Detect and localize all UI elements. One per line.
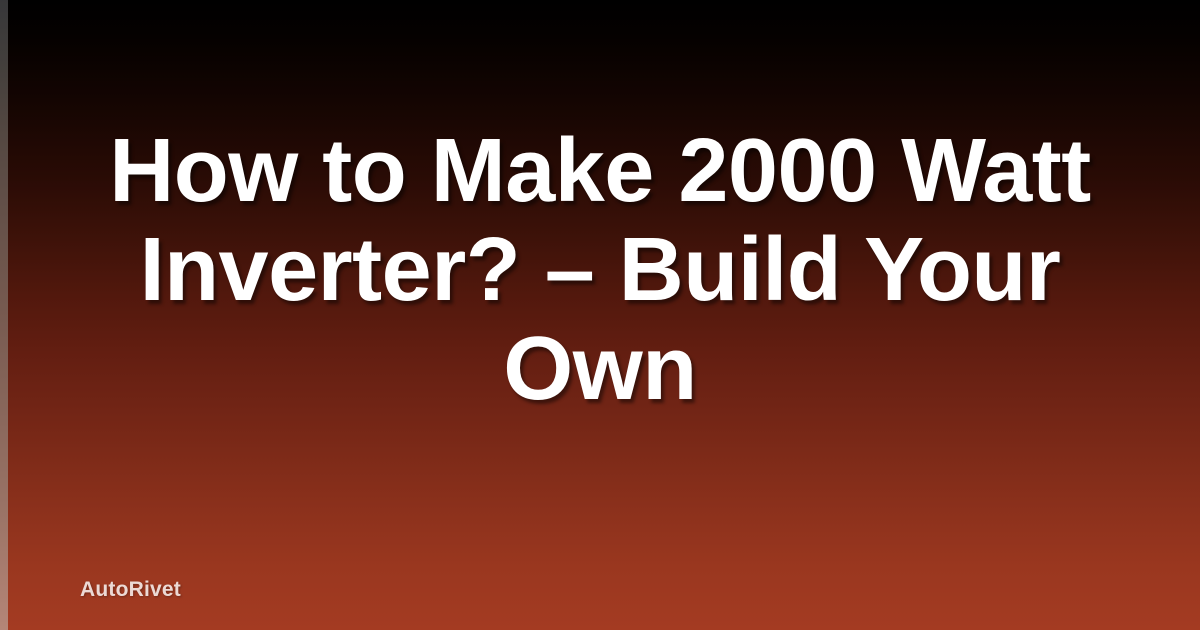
brand-logo-text: AutoRivet	[80, 579, 181, 600]
page-title: How to Make 2000 Watt Inverter? – Build …	[100, 122, 1100, 419]
social-share-card: How to Make 2000 Watt Inverter? – Build …	[0, 0, 1200, 630]
headline-container: How to Make 2000 Watt Inverter? – Build …	[0, 0, 1200, 540]
